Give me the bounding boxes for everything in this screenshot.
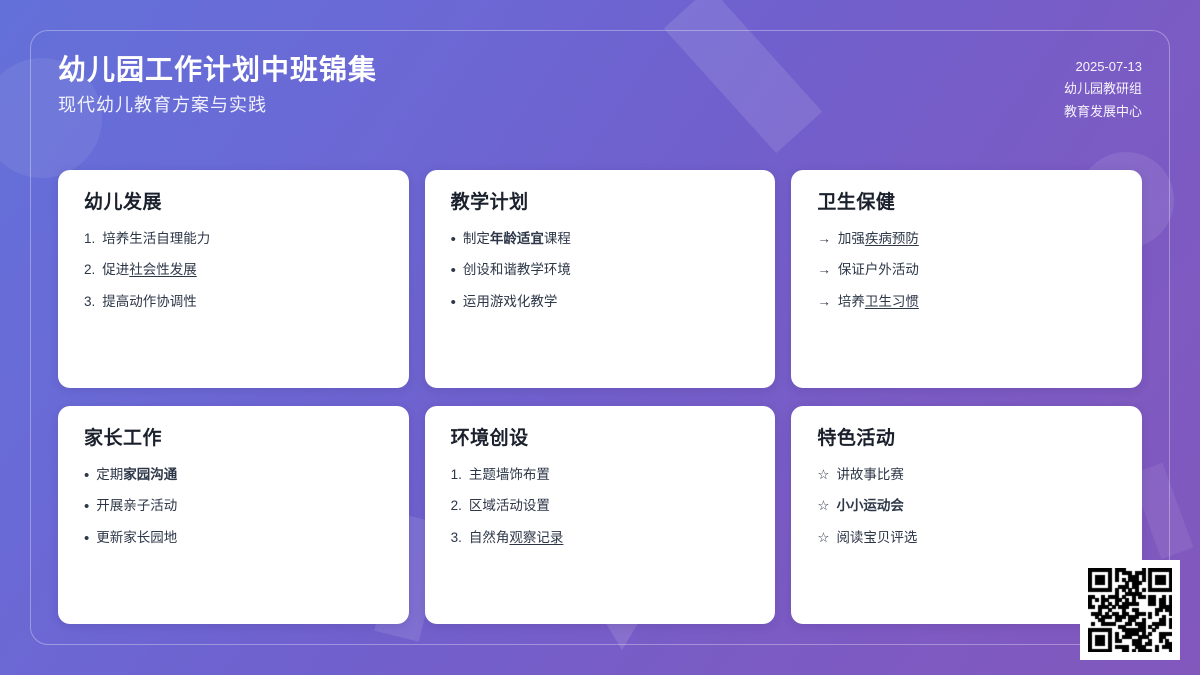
- list-item: →加强疾病预防: [817, 229, 1116, 249]
- card-title: 环境创设: [451, 428, 750, 451]
- item-text-prefix: 促进: [102, 262, 129, 277]
- list-marker-number-icon: 3.: [451, 528, 462, 548]
- list-item: 1.培养生活自理能力: [84, 229, 383, 249]
- list-item-text: 提高动作协调性: [102, 292, 197, 312]
- list-item-text: 创设和谐教学环境: [463, 260, 571, 280]
- item-text-prefix: 制定: [463, 231, 490, 246]
- item-text-prefix: 运用游戏化教学: [463, 294, 558, 309]
- item-text-emphasis: 观察记录: [509, 530, 563, 545]
- slide-root: 幼儿园工作计划中班锦集 现代幼儿教育方案与实践 2025-07-13 幼儿园教研…: [0, 0, 1200, 675]
- list-marker-bullet-icon: •: [84, 499, 89, 514]
- list-marker-star-icon: ☆: [817, 465, 829, 485]
- item-text-prefix: 开展亲子活动: [96, 498, 177, 513]
- list-marker-number-icon: 3.: [84, 292, 95, 312]
- list-item: ☆阅读宝贝评选: [817, 528, 1116, 548]
- list-item: 3.提高动作协调性: [84, 292, 383, 312]
- list-item-text: 讲故事比赛: [836, 465, 904, 485]
- list-item: •更新家长园地: [84, 528, 383, 548]
- item-text-prefix: 更新家长园地: [96, 530, 177, 545]
- content-card[interactable]: 教学计划•制定年龄适宜课程•创设和谐教学环境•运用游戏化教学: [425, 170, 776, 388]
- list-marker-star-icon: ☆: [817, 496, 829, 516]
- card-title: 幼儿发展: [84, 192, 383, 215]
- list-marker-number-icon: 1.: [451, 465, 462, 485]
- card-item-list: •定期家园沟通•开展亲子活动•更新家长园地: [84, 465, 383, 548]
- qr-code-container[interactable]: [1080, 560, 1180, 660]
- item-text-prefix: 培养: [838, 294, 865, 309]
- list-item: 1.主题墙饰布置: [451, 465, 750, 485]
- item-text-emphasis: 家园沟通: [123, 467, 177, 482]
- list-item-text: 培养卫生习惯: [838, 292, 919, 312]
- list-marker-arrow-icon: →: [817, 260, 831, 280]
- card-title: 特色活动: [817, 428, 1116, 451]
- list-item: 2.促进社会性发展: [84, 260, 383, 280]
- card-title: 家长工作: [84, 428, 383, 451]
- list-item: •定期家园沟通: [84, 465, 383, 485]
- list-item-text: 更新家长园地: [96, 528, 177, 548]
- item-text-prefix: 保证户外活动: [838, 262, 919, 277]
- item-text-prefix: 阅读宝贝评选: [836, 530, 917, 545]
- card-title: 教学计划: [451, 192, 750, 215]
- item-text-prefix: 主题墙饰布置: [469, 467, 550, 482]
- list-item: ☆小小运动会: [817, 496, 1116, 516]
- card-item-list: 1.主题墙饰布置2.区域活动设置3.自然角观察记录: [451, 465, 750, 548]
- qr-code-icon: [1088, 568, 1172, 652]
- item-text-prefix: 自然角: [469, 530, 510, 545]
- list-item: ☆讲故事比赛: [817, 465, 1116, 485]
- list-item-text: 阅读宝贝评选: [836, 528, 917, 548]
- slide-header: 幼儿园工作计划中班锦集 现代幼儿教育方案与实践 2025-07-13 幼儿园教研…: [58, 52, 1142, 123]
- content-card[interactable]: 家长工作•定期家园沟通•开展亲子活动•更新家长园地: [58, 406, 409, 624]
- card-grid: 幼儿发展1.培养生活自理能力2.促进社会性发展3.提高动作协调性教学计划•制定年…: [58, 170, 1142, 624]
- list-marker-arrow-icon: →: [817, 292, 831, 312]
- meta-department: 教育发展中心: [1064, 101, 1142, 123]
- list-item: •制定年龄适宜课程: [451, 229, 750, 249]
- item-text-emphasis: 疾病预防: [865, 231, 919, 246]
- meta-organization: 幼儿园教研组: [1064, 78, 1142, 100]
- list-item-text: 主题墙饰布置: [469, 465, 550, 485]
- list-marker-number-icon: 2.: [84, 260, 95, 280]
- list-item-text: 开展亲子活动: [96, 496, 177, 516]
- list-item-text: 加强疾病预防: [838, 229, 919, 249]
- list-marker-bullet-icon: •: [451, 263, 456, 278]
- card-item-list: 1.培养生活自理能力2.促进社会性发展3.提高动作协调性: [84, 229, 383, 312]
- list-item-text: 保证户外活动: [838, 260, 919, 280]
- list-item: •创设和谐教学环境: [451, 260, 750, 280]
- list-marker-bullet-icon: •: [84, 468, 89, 483]
- list-item: •开展亲子活动: [84, 496, 383, 516]
- list-item-text: 促进社会性发展: [102, 260, 197, 280]
- list-item-text: 小小运动会: [836, 496, 904, 516]
- item-text-prefix: 小小运动会: [836, 498, 904, 513]
- list-marker-bullet-icon: •: [451, 295, 456, 310]
- list-item-text: 培养生活自理能力: [102, 229, 210, 249]
- title-block: 幼儿园工作计划中班锦集 现代幼儿教育方案与实践: [58, 52, 377, 117]
- card-item-list: •制定年龄适宜课程•创设和谐教学环境•运用游戏化教学: [451, 229, 750, 312]
- item-text-prefix: 加强: [838, 231, 865, 246]
- list-marker-star-icon: ☆: [817, 528, 829, 548]
- list-marker-arrow-icon: →: [817, 229, 831, 249]
- item-text-prefix: 区域活动设置: [469, 498, 550, 513]
- item-text-prefix: 讲故事比赛: [836, 467, 904, 482]
- meta-date: 2025-07-13: [1064, 56, 1142, 78]
- list-marker-number-icon: 2.: [451, 496, 462, 516]
- list-item: 2.区域活动设置: [451, 496, 750, 516]
- item-text-emphasis: 年龄适宜: [490, 231, 544, 246]
- list-item: →培养卫生习惯: [817, 292, 1116, 312]
- page-title: 幼儿园工作计划中班锦集: [58, 52, 377, 88]
- item-text-prefix: 创设和谐教学环境: [463, 262, 571, 277]
- item-text-prefix: 培养生活自理能力: [102, 231, 210, 246]
- list-item-text: 定期家园沟通: [96, 465, 177, 485]
- list-item-text: 区域活动设置: [469, 496, 550, 516]
- card-item-list: ☆讲故事比赛☆小小运动会☆阅读宝贝评选: [817, 465, 1116, 548]
- item-text-prefix: 定期: [96, 467, 123, 482]
- list-item: •运用游戏化教学: [451, 292, 750, 312]
- content-card[interactable]: 卫生保健→加强疾病预防→保证户外活动→培养卫生习惯: [791, 170, 1142, 388]
- list-item: 3.自然角观察记录: [451, 528, 750, 548]
- page-subtitle: 现代幼儿教育方案与实践: [58, 94, 377, 117]
- list-item-text: 运用游戏化教学: [463, 292, 558, 312]
- list-marker-bullet-icon: •: [451, 232, 456, 247]
- list-item-text: 制定年龄适宜课程: [463, 229, 571, 249]
- header-meta: 2025-07-13 幼儿园教研组 教育发展中心: [1064, 52, 1142, 123]
- item-text-emphasis: 卫生习惯: [865, 294, 919, 309]
- content-card[interactable]: 幼儿发展1.培养生活自理能力2.促进社会性发展3.提高动作协调性: [58, 170, 409, 388]
- list-item-text: 自然角观察记录: [469, 528, 564, 548]
- list-item: →保证户外活动: [817, 260, 1116, 280]
- card-title: 卫生保健: [817, 192, 1116, 215]
- item-text-prefix: 提高动作协调性: [102, 294, 197, 309]
- list-marker-bullet-icon: •: [84, 531, 89, 546]
- list-marker-number-icon: 1.: [84, 229, 95, 249]
- content-card[interactable]: 环境创设1.主题墙饰布置2.区域活动设置3.自然角观察记录: [425, 406, 776, 624]
- item-text-suffix: 课程: [544, 231, 571, 246]
- item-text-emphasis: 社会性发展: [129, 262, 197, 277]
- card-item-list: →加强疾病预防→保证户外活动→培养卫生习惯: [817, 229, 1116, 312]
